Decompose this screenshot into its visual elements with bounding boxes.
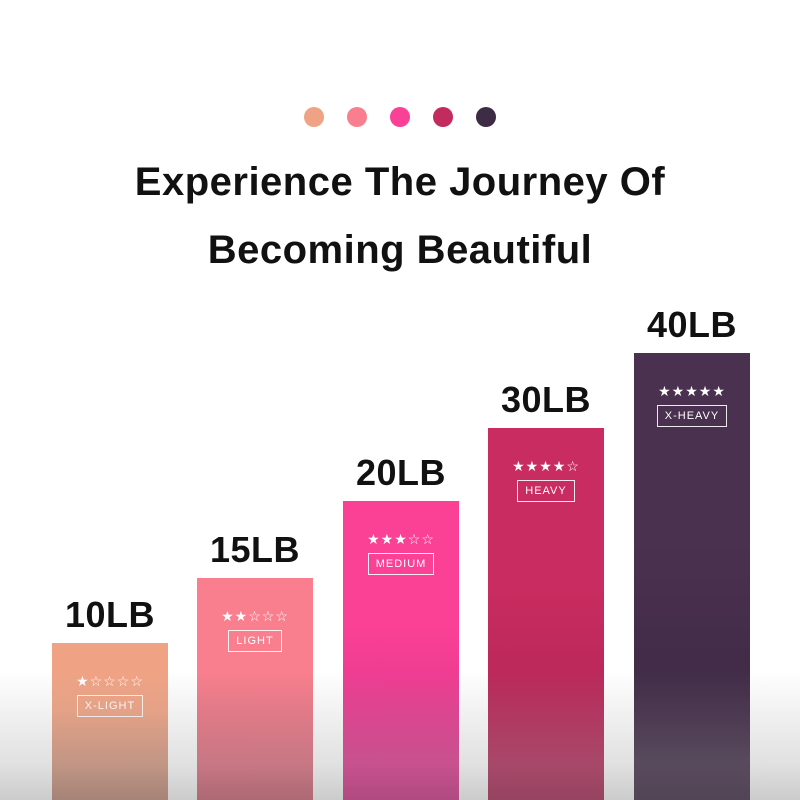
bar-x-light[interactable] [52, 643, 168, 800]
tier-label-light: LIGHT [228, 630, 281, 652]
tier-label-x-light: X-LIGHT [77, 695, 143, 717]
star-rating-icon-light: ★★☆☆☆ [211, 608, 299, 624]
bar-group-medium[interactable]: 20LB★★★☆☆MEDIUM [343, 501, 459, 800]
tier-label-medium: MEDIUM [368, 553, 435, 575]
bar-badge-heavy: ★★★★☆HEAVY [502, 458, 590, 502]
star-rating-icon-heavy: ★★★★☆ [502, 458, 590, 474]
star-rating-icon-x-heavy: ★★★★★ [648, 383, 736, 399]
bar-group-heavy[interactable]: 30LB★★★★☆HEAVY [488, 428, 604, 800]
bar-value-label-x-heavy: 40LB [647, 307, 737, 343]
resistance-band-infographic: Experience The Journey Of Becoming Beaut… [0, 0, 800, 800]
bar-group-x-heavy[interactable]: 40LB★★★★★X-HEAVY [634, 353, 750, 800]
bar-value-label-medium: 20LB [356, 455, 446, 491]
bar-value-label-heavy: 30LB [501, 382, 591, 418]
bar-badge-x-light: ★☆☆☆☆X-LIGHT [66, 673, 154, 717]
star-rating-icon-medium: ★★★☆☆ [357, 531, 445, 547]
bar-value-label-x-light: 10LB [65, 597, 155, 633]
bar-badge-medium: ★★★☆☆MEDIUM [357, 531, 445, 575]
tier-label-heavy: HEAVY [517, 480, 574, 502]
bar-badge-light: ★★☆☆☆LIGHT [211, 608, 299, 652]
bar-group-light[interactable]: 15LB★★☆☆☆LIGHT [197, 578, 313, 800]
resistance-bar-chart: 10LB★☆☆☆☆X-LIGHT15LB★★☆☆☆LIGHT20LB★★★☆☆M… [0, 0, 800, 800]
tier-label-x-heavy: X-HEAVY [657, 405, 727, 427]
star-rating-icon-x-light: ★☆☆☆☆ [66, 673, 154, 689]
bar-value-label-light: 15LB [210, 532, 300, 568]
bar-group-x-light[interactable]: 10LB★☆☆☆☆X-LIGHT [52, 643, 168, 800]
bar-badge-x-heavy: ★★★★★X-HEAVY [648, 383, 736, 427]
